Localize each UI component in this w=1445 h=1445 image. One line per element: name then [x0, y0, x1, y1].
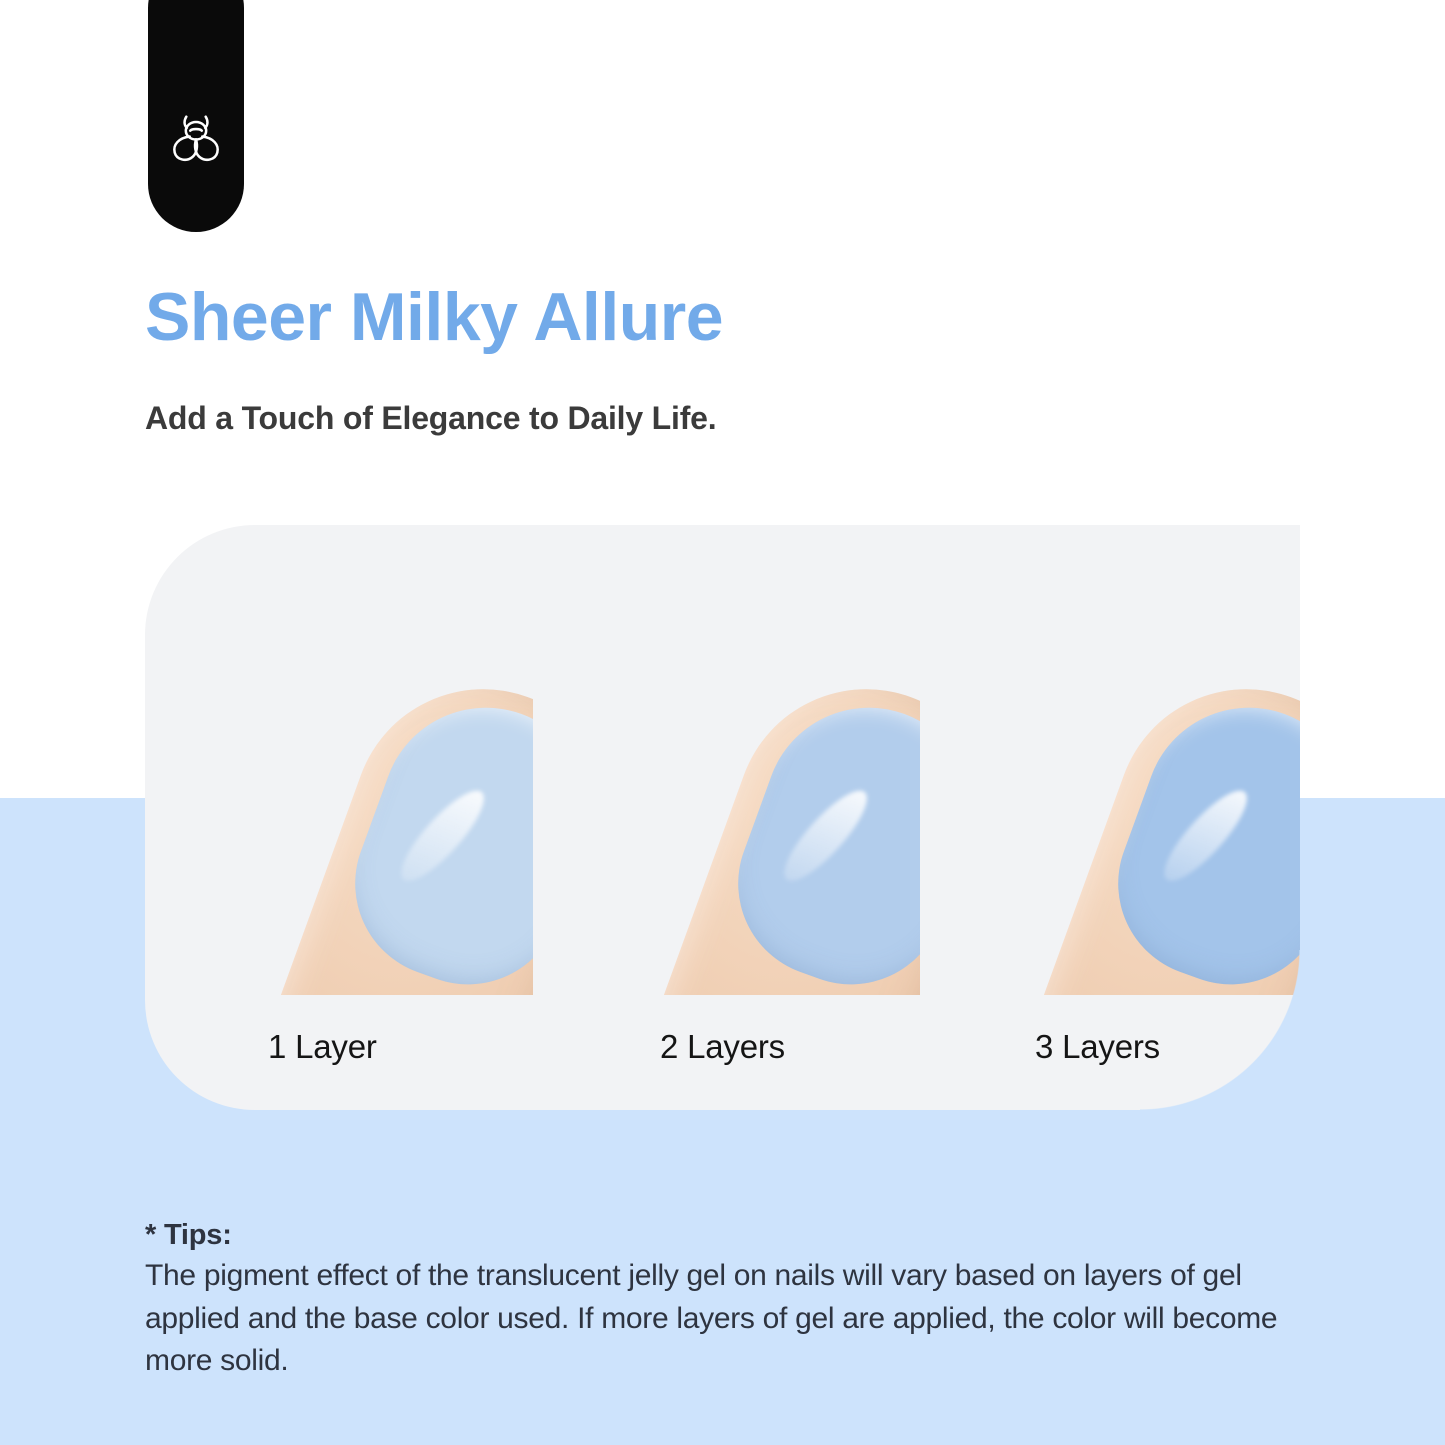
swatch-photo-3-layers: [990, 525, 1300, 995]
tips-heading: * Tips:: [145, 1216, 1280, 1255]
finger-illustration: [990, 653, 1300, 995]
swatch-photo-2-layers: [610, 525, 920, 995]
page-title: Sheer Milky Allure: [145, 283, 723, 351]
bee-monogram-icon: [165, 107, 227, 169]
swatch-photo-row: [145, 525, 1300, 995]
brand-logo-pill: [148, 0, 244, 232]
swatch-card: [145, 525, 1300, 1110]
finger-illustration: [610, 653, 920, 995]
swatch-caption-2-layers: 2 Layers: [660, 1028, 785, 1066]
finger-illustration: [230, 653, 533, 995]
tips-block: * Tips: The pigment effect of the transl…: [145, 1216, 1280, 1383]
product-infographic: Sheer Milky Allure Add a Touch of Elegan…: [0, 0, 1445, 1445]
swatch-caption-3-layers: 3 Layers: [1035, 1028, 1160, 1066]
swatch-caption-1-layer: 1 Layer: [268, 1028, 377, 1066]
tips-body: The pigment effect of the translucent je…: [145, 1255, 1280, 1383]
page-subtitle: Add a Touch of Elegance to Daily Life.: [145, 402, 716, 434]
swatch-photo-1-layer: [230, 525, 533, 995]
